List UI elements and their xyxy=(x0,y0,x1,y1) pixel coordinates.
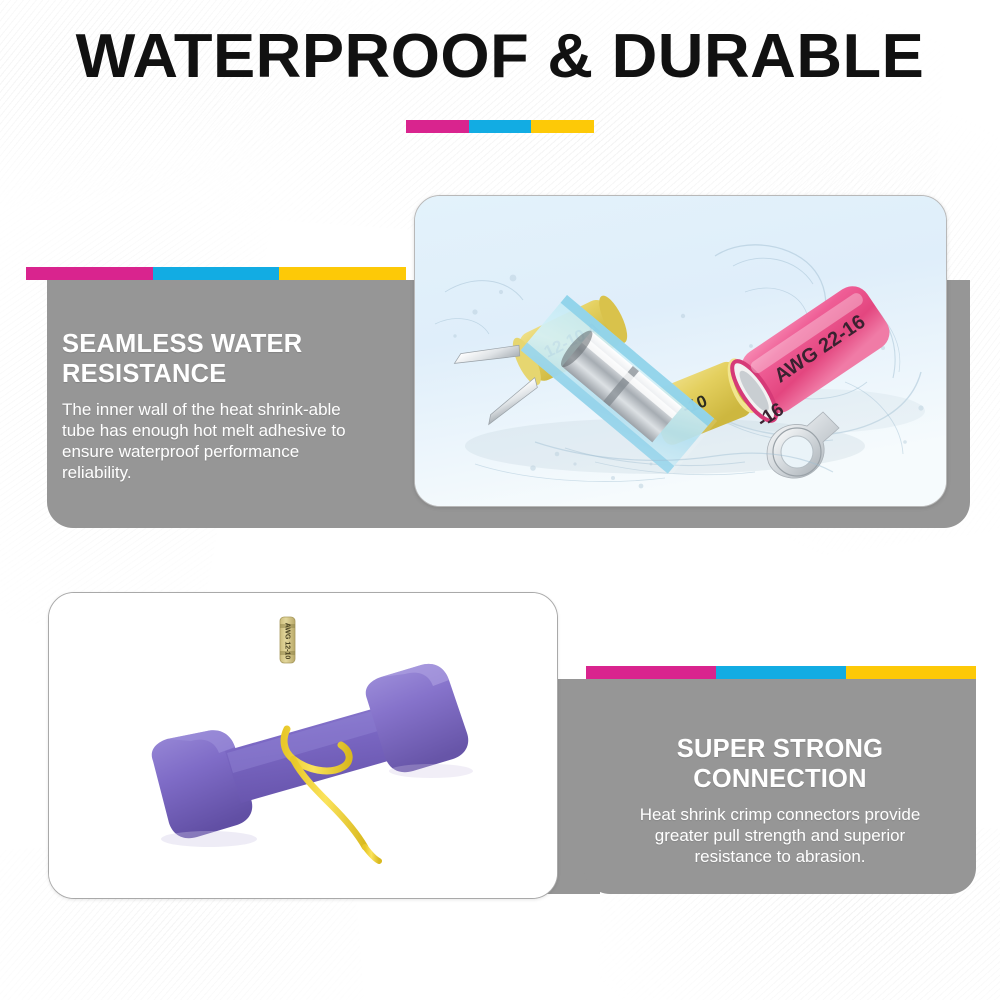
header: WATERPROOF & DURABLE xyxy=(0,24,1000,89)
accent-segment-yellow xyxy=(279,267,406,280)
accent-segment-yellow xyxy=(531,120,594,133)
page-title: WATERPROOF & DURABLE xyxy=(0,24,1000,89)
accent-segment-magenta xyxy=(26,267,153,280)
svg-text:AWG 12-10: AWG 12-10 xyxy=(284,623,291,660)
card1-body: The inner wall of the heat shrink-able t… xyxy=(62,400,372,484)
card2-body: Heat shrink crimp connectors provide gre… xyxy=(620,805,940,868)
product-photo-heat-shrink-connectors: 12-10 A -10 xyxy=(414,195,947,507)
card1-text-block: SEAMLESS WATER RESISTANCE The inner wall… xyxy=(62,330,372,484)
card2-text-block: SUPER STRONG CONNECTION Heat shrink crim… xyxy=(620,735,940,868)
accent-segment-cyan xyxy=(153,267,280,280)
infographic-canvas: WATERPROOF & DURABLE SEAMLESS WATER RESI… xyxy=(0,0,1000,1000)
card2-accent-bar xyxy=(586,666,976,679)
card1-heading: SEAMLESS WATER RESISTANCE xyxy=(62,330,372,389)
dumbbell-illustration: AWG 12-10 xyxy=(49,593,557,898)
accent-segment-magenta xyxy=(406,120,469,133)
connectors-illustration: 12-10 A -10 xyxy=(415,196,946,506)
product-photo-dumbbell-pull-test: AWG 12-10 xyxy=(48,592,558,899)
accent-segment-yellow xyxy=(846,666,976,679)
card2-heading: SUPER STRONG CONNECTION xyxy=(620,735,940,794)
accent-segment-cyan xyxy=(469,120,532,133)
accent-segment-cyan xyxy=(716,666,846,679)
card1-accent-bar xyxy=(26,267,406,280)
header-accent-bar xyxy=(406,120,594,133)
accent-segment-magenta xyxy=(586,666,716,679)
